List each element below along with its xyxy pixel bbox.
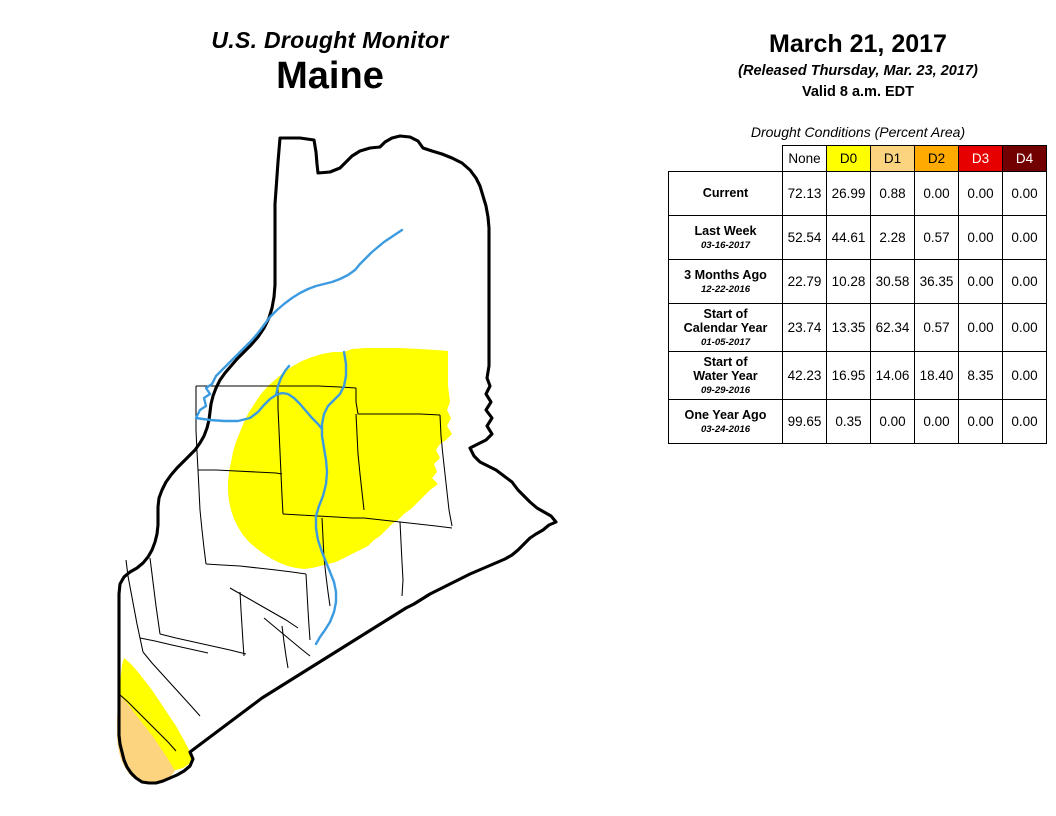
table-cell-value: 18.40 [915,351,959,399]
table-corner-cell [669,146,783,172]
table-cell-value: 0.00 [959,304,1003,352]
table-cell-value: 0.00 [1003,304,1047,352]
table-cell-value: 0.88 [871,172,915,216]
table-row: Start ofCalendar Year01-05-201723.7413.3… [669,304,1047,352]
table-cell-value: 0.00 [959,216,1003,260]
table-row-label: One Year Ago03-24-2016 [669,399,783,443]
info-panel: March 21, 2017 (Released Thursday, Mar. … [660,0,1056,816]
maine-drought-map-svg[interactable] [0,118,660,798]
table-row: Last Week03-16-201752.5444.612.280.570.0… [669,216,1047,260]
table-cell-value: 0.00 [1003,351,1047,399]
table-cell-value: 13.35 [827,304,871,352]
table-cell-value: 99.65 [783,399,827,443]
table-row-date: 03-16-2017 [671,240,780,251]
table-row-date: 09-29-2016 [671,385,780,396]
table-cell-value: 2.28 [871,216,915,260]
map-region-d0-east [228,348,452,569]
table-cell-value: 0.00 [1003,216,1047,260]
table-row-date: 01-05-2017 [671,337,780,348]
table-row-label: Start ofCalendar Year01-05-2017 [669,304,783,352]
table-cell-value: 0.00 [959,260,1003,304]
page-title: U.S. Drought Monitor [0,28,660,53]
table-row: Current72.1326.990.880.000.000.00 [669,172,1047,216]
table-row-label: Current [669,172,783,216]
table-cell-value: 16.95 [827,351,871,399]
table-cell-value: 36.35 [915,260,959,304]
table-row: One Year Ago03-24-201699.650.350.000.000… [669,399,1047,443]
valid-time: Valid 8 a.m. EDT [660,83,1056,102]
table-cell-value: 22.79 [783,260,827,304]
table-col-header-d4: D4 [1003,146,1047,172]
table-col-header-d2: D2 [915,146,959,172]
table-cell-value: 23.74 [783,304,827,352]
release-date: (Released Thursday, Mar. 23, 2017) [660,62,1056,81]
table-row-label: Start ofWater Year09-29-2016 [669,351,783,399]
table-cell-value: 62.34 [871,304,915,352]
table-body: Current72.1326.990.880.000.000.00Last We… [669,172,1047,444]
table-cell-value: 26.99 [827,172,871,216]
table-row-date: 03-24-2016 [671,424,780,435]
table-row-label: 3 Months Ago12-22-2016 [669,260,783,304]
table-cell-value: 0.00 [959,399,1003,443]
table-cell-value: 0.35 [827,399,871,443]
table-col-header-d1: D1 [871,146,915,172]
table-cell-value: 0.00 [871,399,915,443]
valid-date: March 21, 2017 [660,30,1056,59]
map-title-block: U.S. Drought Monitor Maine [0,28,660,99]
table-cell-value: 42.23 [783,351,827,399]
table-cell-value: 0.00 [1003,260,1047,304]
table-cell-value: 8.35 [959,351,1003,399]
table-row: 3 Months Ago12-22-201622.7910.2830.5836.… [669,260,1047,304]
table-row-label: Last Week03-16-2017 [669,216,783,260]
drought-map[interactable] [0,118,660,798]
table-cell-value: 0.00 [1003,399,1047,443]
table-col-header-d3: D3 [959,146,1003,172]
table-col-header-d0: D0 [827,146,871,172]
table-cell-value: 14.06 [871,351,915,399]
table-cell-value: 0.00 [1003,172,1047,216]
map-panel: U.S. Drought Monitor Maine [0,0,660,816]
table-cell-value: 0.57 [915,216,959,260]
table-cell-value: 0.00 [915,399,959,443]
table-header-row: NoneD0D1D2D3D4 [669,146,1047,172]
table-cell-value: 10.28 [827,260,871,304]
table-cell-value: 72.13 [783,172,827,216]
table-caption: Drought Conditions (Percent Area) [660,124,1056,140]
table-cell-value: 52.54 [783,216,827,260]
table-cell-value: 44.61 [827,216,871,260]
table-row-date: 12-22-2016 [671,284,780,295]
table-cell-value: 0.57 [915,304,959,352]
state-title: Maine [0,55,660,99]
table-cell-value: 30.58 [871,260,915,304]
table-cell-value: 0.00 [915,172,959,216]
table-col-header-none: None [783,146,827,172]
table-row: Start ofWater Year09-29-201642.2316.9514… [669,351,1047,399]
date-block: March 21, 2017 (Released Thursday, Mar. … [660,30,1056,101]
table-cell-value: 0.00 [959,172,1003,216]
drought-conditions-table: NoneD0D1D2D3D4 Current72.1326.990.880.00… [668,145,1047,444]
